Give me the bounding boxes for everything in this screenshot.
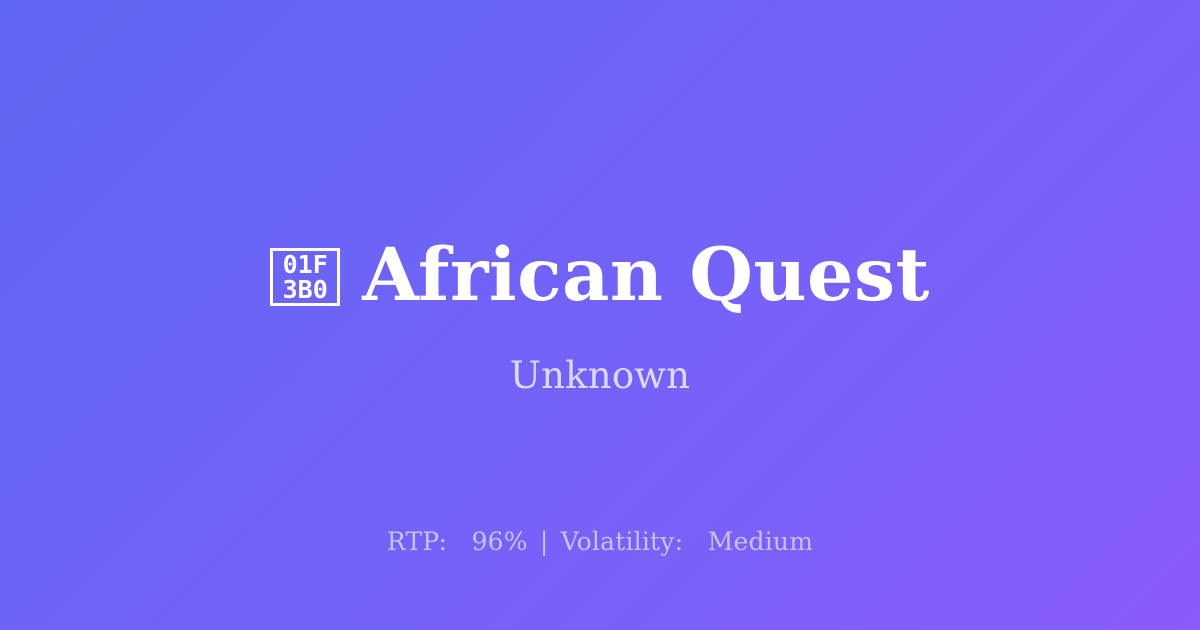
title-row: 01F 3B0 African Quest xyxy=(270,222,930,328)
volatility-label: Volatility: xyxy=(561,527,684,556)
meta-separator: | xyxy=(536,527,553,556)
rtp-label: RTP: xyxy=(387,527,447,556)
slot-machine-emoji-tofu-icon: 01F 3B0 xyxy=(270,248,340,306)
hero-block: 01F 3B0 African Quest Unknown xyxy=(0,222,1200,398)
game-title: African Quest xyxy=(362,225,930,325)
tofu-codepoint-top: 01F xyxy=(283,252,328,277)
game-meta-line: RTP: 96% | Volatility: Medium xyxy=(0,526,1200,558)
tofu-codepoint-bottom: 3B0 xyxy=(283,277,328,302)
game-provider: Unknown xyxy=(510,354,690,398)
og-card: 01F 3B0 African Quest Unknown RTP: 96% |… xyxy=(0,0,1200,630)
volatility-value: Medium xyxy=(708,527,813,556)
rtp-value: 96% xyxy=(472,527,528,556)
